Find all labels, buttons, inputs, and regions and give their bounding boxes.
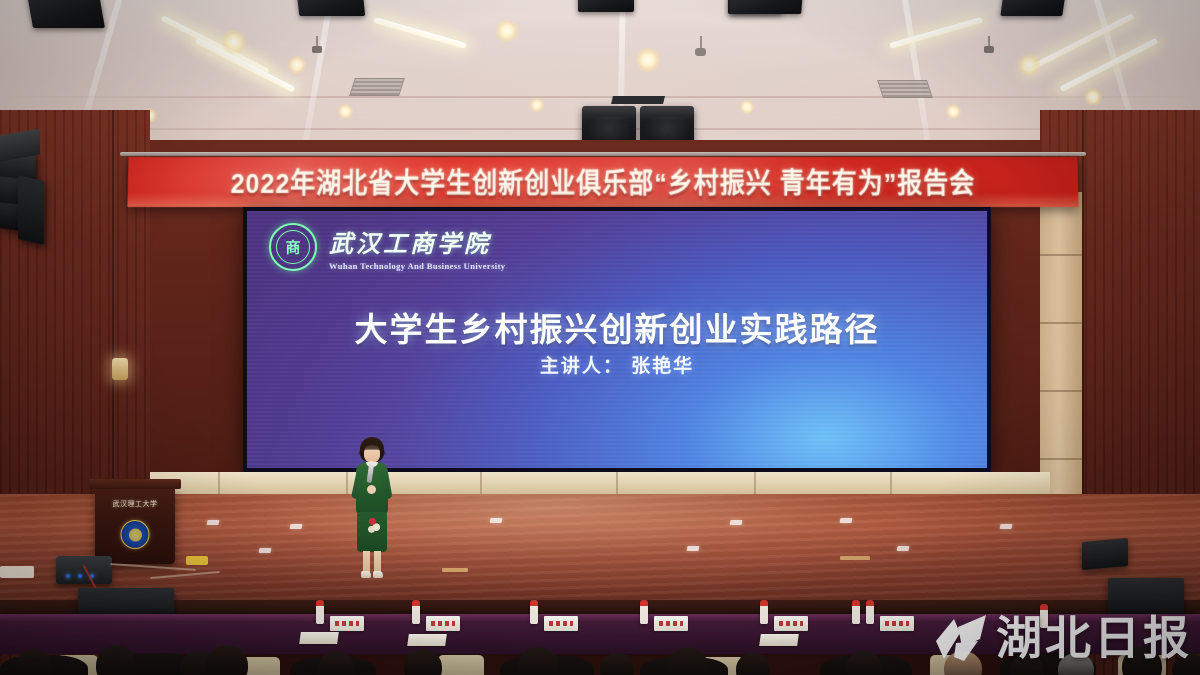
hanging-acoustic-panel (1000, 0, 1065, 16)
speaker-mount-bracket (611, 96, 665, 104)
presenter-shoe-right (373, 571, 383, 578)
stage-marker (1000, 524, 1013, 529)
ceiling-spotlight (496, 20, 518, 42)
pendant-mic (312, 46, 322, 53)
audience-head (96, 645, 136, 675)
pillar-joint (1040, 254, 1082, 256)
stage-tape-mark (442, 568, 468, 572)
slide-subtitle: 主讲人： 张艳华 (247, 351, 987, 378)
dress-floral-pattern (367, 516, 382, 534)
gaffer-tape-marker (186, 556, 208, 565)
pillar-joint (1040, 390, 1082, 392)
ceiling-spotlight (222, 30, 246, 54)
university-name-zh: 武汉工商学院 (329, 224, 505, 259)
stage-marker (687, 546, 700, 551)
stage-monitor-right-upper (1082, 538, 1128, 570)
hanging-acoustic-panel (729, 0, 803, 14)
audience-head (404, 649, 442, 675)
stage-monitor-right-lower (1108, 578, 1184, 618)
water-bottle (316, 600, 324, 624)
water-bottle (760, 600, 768, 624)
hanging-acoustic-panel (578, 0, 634, 12)
presenter-leg-right (374, 551, 381, 573)
pillar-joint (1040, 322, 1082, 324)
ceiling-spotlight (946, 104, 961, 119)
university-logo-row: 商 武汉工商学院 Wuhan Technology And Business U… (269, 223, 505, 271)
banner-text: 2022年湖北省大学生创新创业俱乐部“乡村振兴 青年有为”报告会 (230, 162, 975, 202)
paper-sheet (0, 566, 34, 578)
projection-screen: 商 武汉工商学院 Wuhan Technology And Business U… (247, 211, 987, 468)
projection-screen-frame: 商 武汉工商学院 Wuhan Technology And Business U… (243, 207, 991, 472)
presenter (348, 437, 396, 583)
ceiling-spotlight (636, 48, 660, 72)
presenter-hand (367, 485, 376, 494)
stage-marker (259, 548, 272, 553)
ceiling-spotlight (740, 100, 754, 114)
stage-marker (730, 520, 743, 525)
ceiling-spotlight (338, 104, 353, 119)
lectern-top (89, 479, 181, 489)
water-bottle (866, 600, 874, 624)
audience-head (16, 649, 52, 675)
audience-head (600, 653, 634, 675)
ceiling-spotlight (288, 56, 306, 74)
stage-marker (897, 546, 910, 551)
ceiling-air-vent (349, 78, 405, 96)
stage-marker (840, 518, 853, 523)
water-bottle (640, 600, 648, 624)
auditorium-photo: 2022年湖北省大学生创新创业俱乐部“乡村振兴 青年有为”报告会 商 武汉工商学… (0, 0, 1200, 675)
water-bottle (530, 600, 538, 624)
lectern-label: 武汉理工大学 (95, 499, 175, 509)
wall-sconce (112, 358, 128, 380)
ceiling-spotlight (1084, 88, 1102, 106)
water-bottle (852, 600, 860, 624)
seal-glyph: 商 (271, 237, 315, 258)
water-bottle (412, 600, 420, 624)
pendant-mic (695, 48, 706, 56)
stage-marker (207, 520, 220, 525)
hanging-acoustic-panel (27, 0, 105, 28)
lectern: 武汉理工大学 (95, 487, 175, 564)
stage-marker (290, 524, 303, 529)
presenter-leg-left (363, 551, 370, 573)
hubei-daily-logo-icon (934, 613, 990, 665)
banner-support-rod (120, 152, 1086, 156)
event-banner: 2022年湖北省大学生创新创业俱乐部“乡村振兴 青年有为”报告会 (127, 157, 1078, 207)
audience-head (206, 645, 248, 675)
pendant-mic (984, 46, 994, 53)
slide-title: 大学生乡村振兴创新创业实践路径 (247, 303, 987, 351)
lectern-emblem-icon (121, 520, 150, 549)
university-seal-icon: 商 (269, 223, 317, 271)
watermark-text: 湖北日报 (996, 616, 1192, 662)
status-led (66, 574, 70, 578)
ceiling-air-vent (877, 80, 933, 98)
presenter-shoe-left (361, 571, 371, 578)
watermark: 湖北日报 (934, 613, 1192, 665)
audience-head (518, 647, 558, 675)
line-array-speaker-lower (18, 175, 44, 245)
seat-back (438, 655, 484, 675)
hanging-acoustic-panel (297, 0, 366, 16)
status-led (78, 574, 82, 578)
stage-tape-mark (840, 556, 870, 560)
audience-head (318, 651, 354, 675)
stage-marker (490, 518, 503, 523)
ceiling-seam (0, 96, 1200, 98)
ceiling-spotlight (1018, 54, 1040, 76)
audience-head (668, 647, 708, 675)
university-name-en: Wuhan Technology And Business University (329, 261, 505, 271)
pillar-joint (1040, 458, 1082, 460)
ceiling-spotlight (530, 98, 544, 112)
audience-head (736, 653, 770, 675)
